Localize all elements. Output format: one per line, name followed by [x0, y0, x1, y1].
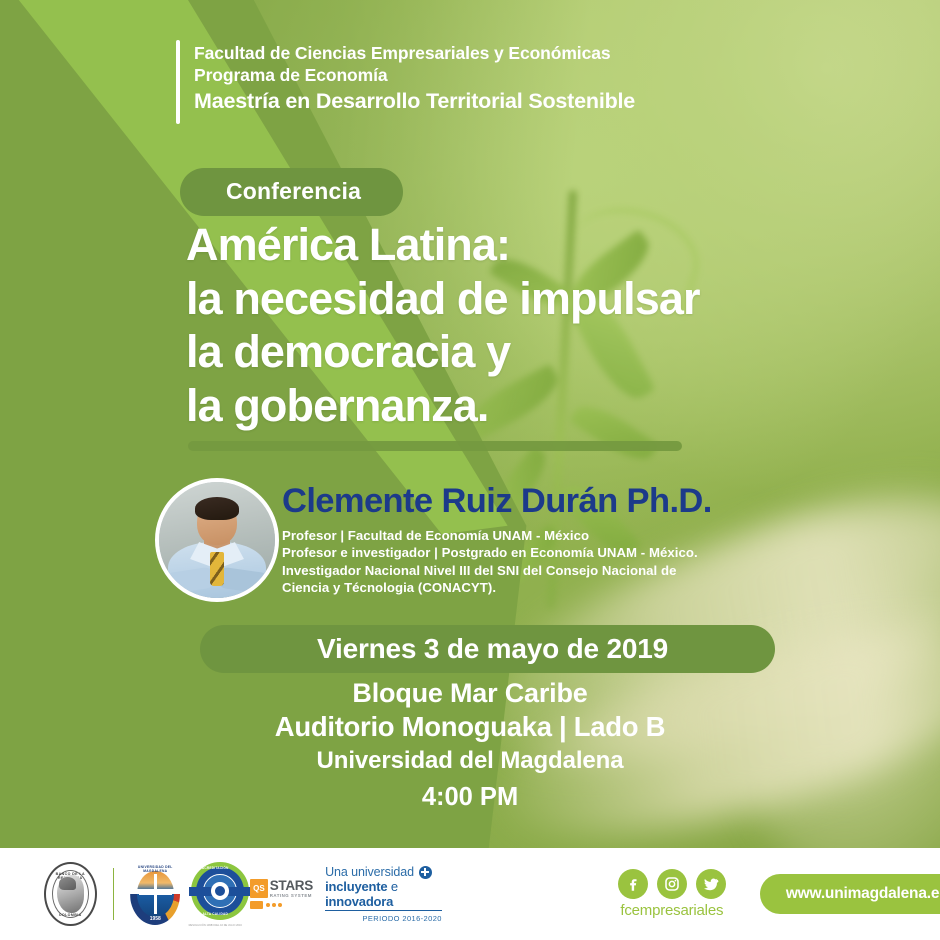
stars-subtitle: RATING SYSTEM	[270, 894, 313, 898]
social-handle: fcempresariales	[618, 902, 726, 919]
footer-logos: BANCO DE LA REPUBLICA COLOMBIA UNIVERSID…	[0, 862, 442, 926]
title-line-3: la democracia y	[186, 325, 876, 379]
poster-content: Facultad de Ciencias Empresariales y Eco…	[0, 0, 940, 848]
incluyente-line2: incluyente e innovadora	[325, 879, 442, 911]
facebook-icon[interactable]	[618, 869, 648, 899]
qs-stars-logo-icon: QS STARS RATING SYSTEM	[250, 879, 312, 909]
seal-acred-caption: RESOLUCIÓN 10683 DEL 16 DE JULIO 2016	[182, 924, 248, 927]
seal-banco-text-bottom: COLOMBIA	[46, 913, 95, 917]
title-line-1: América Latina:	[186, 218, 876, 272]
seal-unimag-band	[130, 889, 180, 894]
speaker-bio-line: Profesor | Facultad de Economía UNAM - M…	[282, 527, 872, 545]
acreditacion-alta-calidad-seal-icon: ACREDITACIÓN ALTA CALIDAD RESOLUCIÓN 106…	[189, 862, 241, 926]
footer-bar: BANCO DE LA REPUBLICA COLOMBIA UNIVERSID…	[0, 848, 940, 940]
page-title: América Latina: la necesidad de impulsar…	[186, 218, 876, 432]
incluyente-word-2: e	[391, 879, 398, 894]
masters-program-name: Maestría en Desarrollo Territorial Soste…	[194, 88, 635, 116]
twitter-icon[interactable]	[696, 869, 726, 899]
speaker-bio-line: Investigador Nacional Nivel III del SNI …	[282, 562, 872, 580]
title-line-2: la necesidad de impulsar	[186, 272, 876, 326]
speaker-info: Clemente Ruiz Durán Ph.D. Profesor | Fac…	[282, 482, 872, 597]
faculty-name: Facultad de Ciencias Empresariales y Eco…	[194, 42, 635, 64]
title-divider	[188, 441, 682, 451]
banco-republica-seal-icon: BANCO DE LA REPUBLICA COLOMBIA	[44, 862, 97, 926]
stars-chip	[250, 901, 263, 909]
avatar-hair	[195, 497, 239, 520]
conference-poster: Facultad de Ciencias Empresariales y Eco…	[0, 0, 940, 940]
incluyente-word-1: incluyente	[325, 879, 387, 894]
venue-university: Universidad del Magdalena	[0, 745, 940, 776]
venue-auditorium: Auditorio Monoguaka | Lado B	[0, 710, 940, 745]
event-venue: Bloque Mar Caribe Auditorio Monoguaka | …	[0, 676, 940, 816]
avatar-necktie	[210, 552, 224, 587]
header-accent-rule	[176, 40, 180, 124]
incluyente-period: PERIODO 2016-2020	[325, 914, 442, 923]
seal-acred-text-top: ACREDITACIÓN	[189, 866, 241, 870]
website-button[interactable]: www.unimagdalena.edu.co	[760, 874, 940, 914]
incluyente-word-3: innovadora	[325, 894, 393, 909]
footer-divider	[113, 868, 115, 920]
venue-building: Bloque Mar Caribe	[0, 676, 940, 710]
title-line-4: la gobernanza.	[186, 379, 876, 433]
speaker-name: Clemente Ruiz Durán Ph.D.	[282, 482, 872, 521]
stars-dots	[266, 903, 282, 907]
faculty-header: Facultad de Ciencias Empresariales y Eco…	[176, 40, 635, 124]
unimagdalena-seal-icon: UNIVERSIDAD DEL MAGDALENA 1958	[130, 863, 180, 925]
event-time: 4:00 PM	[0, 780, 940, 816]
qs-mark: QS	[250, 879, 268, 898]
program-name: Programa de Economía	[194, 64, 635, 86]
seal-banco-profile-head	[57, 875, 84, 913]
stars-rating-bar	[250, 901, 312, 909]
event-date-pill: Viernes 3 de mayo de 2019	[200, 625, 775, 673]
speaker-avatar	[155, 478, 279, 602]
instagram-icon[interactable]	[657, 869, 687, 899]
seal-unimag-year: 1958	[130, 916, 180, 922]
seal-unimag-ring-text: UNIVERSIDAD DEL MAGDALENA	[130, 865, 180, 873]
incluyente-line1: Una universidad	[325, 865, 414, 879]
conference-badge: Conferencia	[180, 168, 403, 216]
website-block: www.unimagdalena.edu.co	[760, 874, 940, 914]
speaker-bio: Profesor | Facultad de Economía UNAM - M…	[282, 527, 872, 597]
seal-acred-text-bottom: ALTA CALIDAD	[189, 912, 241, 916]
speaker-bio-line: Profesor e investigador | Postgrado en E…	[282, 544, 872, 562]
universidad-incluyente-logo: Una universidad incluyente e innovadora …	[325, 865, 442, 923]
social-media-block: fcempresariales	[618, 869, 726, 919]
plus-icon	[419, 866, 432, 879]
stars-wordmark: STARS	[270, 879, 313, 893]
speaker-bio-line: Ciencia y Técnologia (CONACYT).	[282, 579, 872, 597]
